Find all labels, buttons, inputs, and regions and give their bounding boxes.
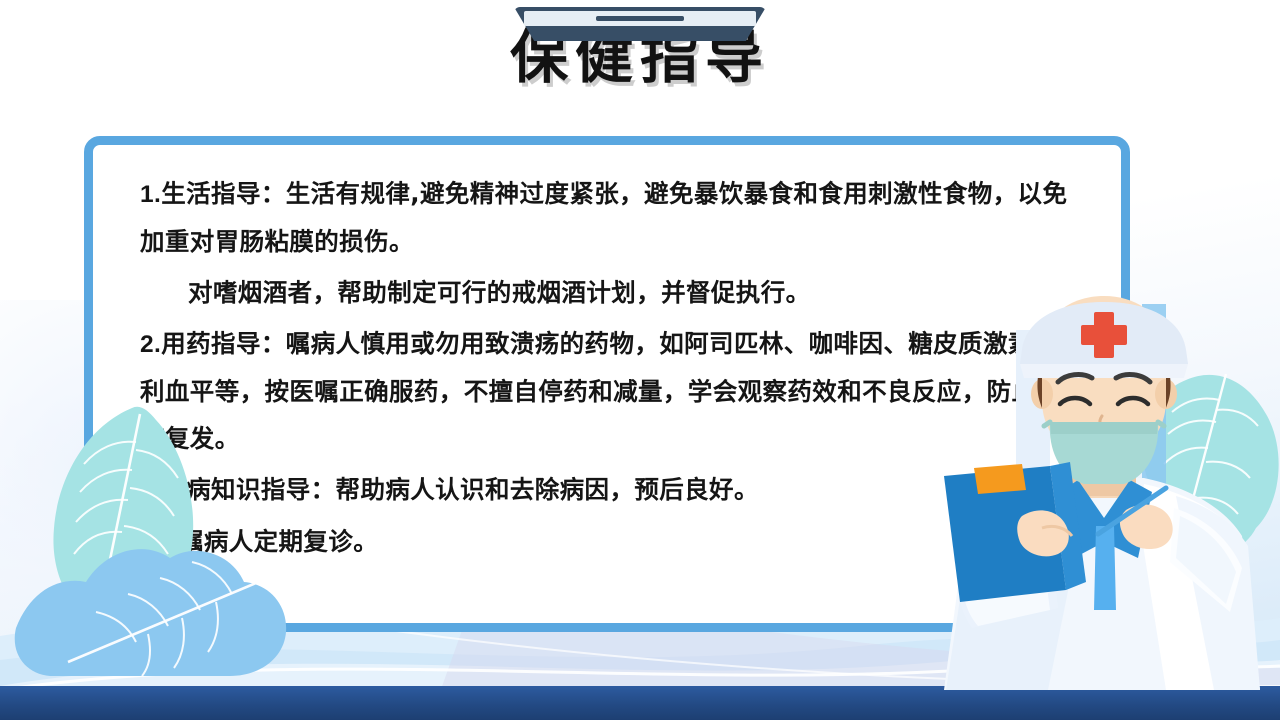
list-item: 1.生活指导：生活有规律,避免精神过度紧张，避免暴饮暴食和食用刺激性食物，以免加…: [140, 170, 1078, 265]
nurse-illustration: [930, 290, 1280, 690]
list-item-number: 2: [140, 331, 154, 358]
whiteboard-notch-line: [596, 16, 684, 21]
leaf-left-blue-icon: [10, 520, 300, 680]
list-item-text: 疾病知识指导：帮助病人认识和去除病因，预后良好。: [161, 475, 759, 504]
bottom-accent-bar: [0, 686, 1280, 720]
list-item-number: 1: [140, 181, 154, 208]
list-item-text: 用药指导：嘱病人慎用或勿用致溃疡的药物，如阿司匹林、咖啡因、糖皮质激素、利血平等…: [140, 329, 1061, 453]
list-item-text: 对嗜烟酒者，帮助制定可行的戒烟酒计划，并督促执行。: [188, 278, 811, 307]
list-item-text: 生活指导：生活有规律,避免精神过度紧张，避免暴饮暴食和食用刺激性食物，以免加重对…: [140, 179, 1067, 256]
slide-canvas: 保健指导 1.生活指导：生活有规律,避免精神过度紧张，避免暴饮暴食和食用刺激性食…: [0, 0, 1280, 720]
